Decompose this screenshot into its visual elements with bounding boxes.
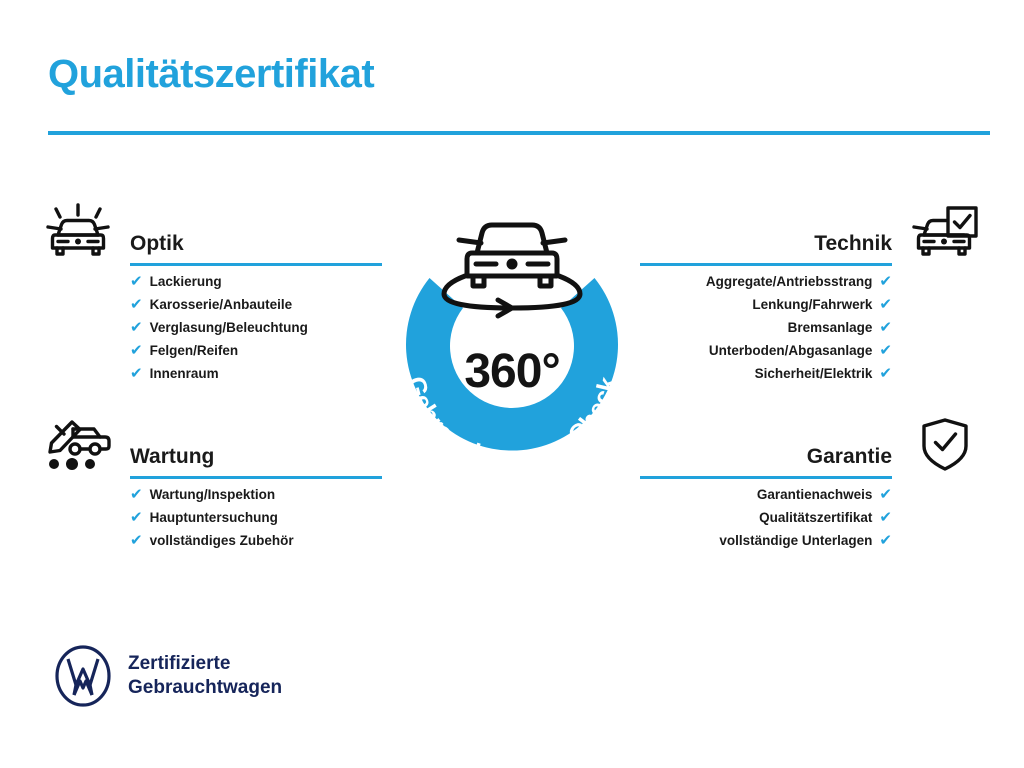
check-icon: ✔ — [130, 533, 143, 548]
list-item: ✔Hauptuntersuchung — [130, 506, 382, 529]
section-technik-header: Technik — [640, 200, 982, 270]
list-item: ✔Karosserie/Anbauteile — [130, 293, 382, 316]
vw-wordmark: Zertifizierte Gebrauchtwagen — [128, 652, 282, 700]
list-item: vollständige Unterlagen✔ — [640, 529, 892, 552]
list-item: ✔Wartung/Inspektion — [130, 483, 382, 506]
shield-check-icon — [908, 415, 982, 475]
section-optik-header: Optik — [42, 200, 382, 270]
list-item-label: Lenkung/Fahrwerk — [752, 297, 872, 312]
header-divider — [48, 131, 990, 135]
check-icon: ✔ — [130, 366, 143, 381]
car-rotation-360-icon — [444, 225, 580, 316]
list-item: Unterboden/Abgasanlage✔ — [640, 339, 892, 362]
list-item: ✔Felgen/Reifen — [130, 339, 382, 362]
list-item-label: Verglasung/Beleuchtung — [150, 320, 308, 335]
list-item: Sicherheit/Elektrik✔ — [640, 362, 892, 385]
list-item: Bremsanlage✔ — [640, 316, 892, 339]
section-optik-divider — [130, 263, 382, 266]
car-shine-icon — [42, 202, 116, 262]
check-icon: ✔ — [879, 533, 892, 548]
section-technik-divider — [640, 263, 892, 266]
check-icon: ✔ — [130, 274, 143, 289]
section-wartung-divider — [130, 476, 382, 479]
section-optik-title: Optik — [130, 232, 184, 256]
list-item: Garantienachweis✔ — [640, 483, 892, 506]
list-item: ✔Innenraum — [130, 362, 382, 385]
service-book-pen-car-icon — [42, 415, 116, 475]
check-icon: ✔ — [879, 487, 892, 502]
check-icon: ✔ — [130, 343, 143, 358]
list-item-label: Lackierung — [150, 274, 222, 289]
check-icon: ✔ — [879, 366, 892, 381]
check-icon: ✔ — [130, 510, 143, 525]
list-item-label: Unterboden/Abgasanlage — [709, 343, 873, 358]
section-wartung: Wartung ✔Wartung/Inspektion ✔Hauptunters… — [42, 413, 382, 552]
technik-check-list: Aggregate/Antriebsstrang✔ Lenkung/Fahrwe… — [640, 270, 892, 385]
list-item-label: Aggregate/Antriebsstrang — [706, 274, 873, 289]
vw-wordmark-line2: Gebrauchtwagen — [128, 676, 282, 700]
list-item: Aggregate/Antriebsstrang✔ — [640, 270, 892, 293]
badge-value: 360° — [372, 344, 652, 399]
list-item-label: Hauptuntersuchung — [150, 510, 278, 525]
volkswagen-logo-icon — [52, 645, 114, 707]
list-item-label: vollständiges Zubehör — [150, 533, 294, 548]
list-item: ✔Verglasung/Beleuchtung — [130, 316, 382, 339]
list-item-label: Wartung/Inspektion — [150, 487, 276, 502]
check-icon: ✔ — [879, 274, 892, 289]
vw-wordmark-line1: Zertifizierte — [128, 652, 282, 676]
section-optik: Optik ✔Lackierung ✔Karosserie/Anbauteile… — [42, 200, 382, 385]
check-icon: ✔ — [879, 320, 892, 335]
check-icon: ✔ — [130, 487, 143, 502]
optik-check-list: ✔Lackierung ✔Karosserie/Anbauteile ✔Verg… — [130, 270, 382, 385]
list-item-label: vollständige Unterlagen — [719, 533, 872, 548]
list-item-label: Bremsanlage — [788, 320, 873, 335]
list-item: Qualitätszertifikat✔ — [640, 506, 892, 529]
section-garantie-header: Garantie — [640, 413, 982, 483]
vw-logo-block: Zertifizierte Gebrauchtwagen — [52, 645, 282, 707]
list-item: ✔Lackierung — [130, 270, 382, 293]
360-check-badge: Gebrauchtwagen-Check 360° — [372, 196, 652, 486]
list-item-label: Qualitätszertifikat — [759, 510, 872, 525]
section-garantie-title: Garantie — [807, 445, 892, 469]
section-technik-title: Technik — [814, 232, 892, 256]
check-icon: ✔ — [879, 343, 892, 358]
check-icon: ✔ — [879, 297, 892, 312]
section-wartung-title: Wartung — [130, 445, 214, 469]
list-item-label: Sicherheit/Elektrik — [755, 366, 873, 381]
car-checkbox-icon — [908, 202, 982, 262]
list-item: Lenkung/Fahrwerk✔ — [640, 293, 892, 316]
section-garantie: Garantie Garantienachweis✔ Qualitätszert… — [640, 413, 982, 552]
list-item-label: Karosserie/Anbauteile — [150, 297, 293, 312]
page-title: Qualitätszertifikat — [48, 52, 374, 96]
list-item-label: Felgen/Reifen — [150, 343, 239, 358]
section-technik: Technik Aggregate/Antriebsstrang✔ Lenkun… — [640, 200, 982, 385]
section-wartung-header: Wartung — [42, 413, 382, 483]
check-icon: ✔ — [130, 297, 143, 312]
garantie-check-list: Garantienachweis✔ Qualitätszertifikat✔ v… — [640, 483, 892, 552]
wartung-check-list: ✔Wartung/Inspektion ✔Hauptuntersuchung ✔… — [130, 483, 382, 552]
check-icon: ✔ — [879, 510, 892, 525]
list-item: ✔vollständiges Zubehör — [130, 529, 382, 552]
section-garantie-divider — [640, 476, 892, 479]
list-item-label: Garantienachweis — [757, 487, 873, 502]
list-item-label: Innenraum — [150, 366, 219, 381]
check-icon: ✔ — [130, 320, 143, 335]
